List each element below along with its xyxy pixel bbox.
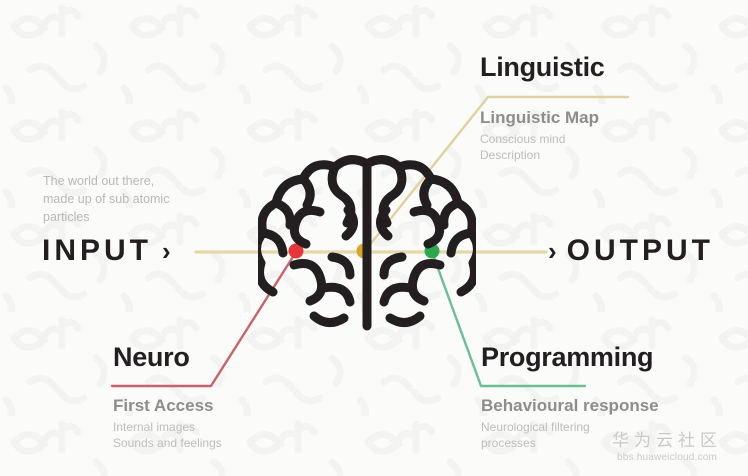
node-title-linguistic: Linguistic <box>480 52 605 83</box>
node-title-programming: Programming <box>481 342 653 373</box>
node-subtitle-neuro: First Access <box>113 396 213 416</box>
input-label: INPUT › <box>42 234 171 268</box>
nlp-diagram-canvas: INPUT › › OUTPUT The world out there, ma… <box>0 0 748 476</box>
watermark: 华为云社区 bbs.huaweicloud.com <box>612 432 722 465</box>
output-label-text: OUTPUT <box>567 234 714 268</box>
input-description: The world out there, made up of sub atom… <box>43 172 233 226</box>
node-subtitle-programming: Behavioural response <box>481 396 659 416</box>
node-detail-programming: Neurological filtering processes <box>481 419 590 451</box>
input-label-text: INPUT <box>42 234 152 268</box>
output-label: › OUTPUT <box>548 234 714 268</box>
node-title-neuro: Neuro <box>113 342 190 373</box>
node-detail-linguistic: Conscious mind Description <box>480 131 565 163</box>
brain-icon <box>258 150 476 336</box>
watermark-url: bbs.huaweicloud.com <box>612 451 722 465</box>
input-chevron-icon: › <box>162 238 171 264</box>
watermark-brand: 华为云社区 <box>612 432 722 451</box>
node-detail-neuro: Internal images Sounds and feelings <box>113 419 222 451</box>
node-subtitle-linguistic: Linguistic Map <box>480 108 599 128</box>
output-chevron-icon: › <box>548 238 557 264</box>
